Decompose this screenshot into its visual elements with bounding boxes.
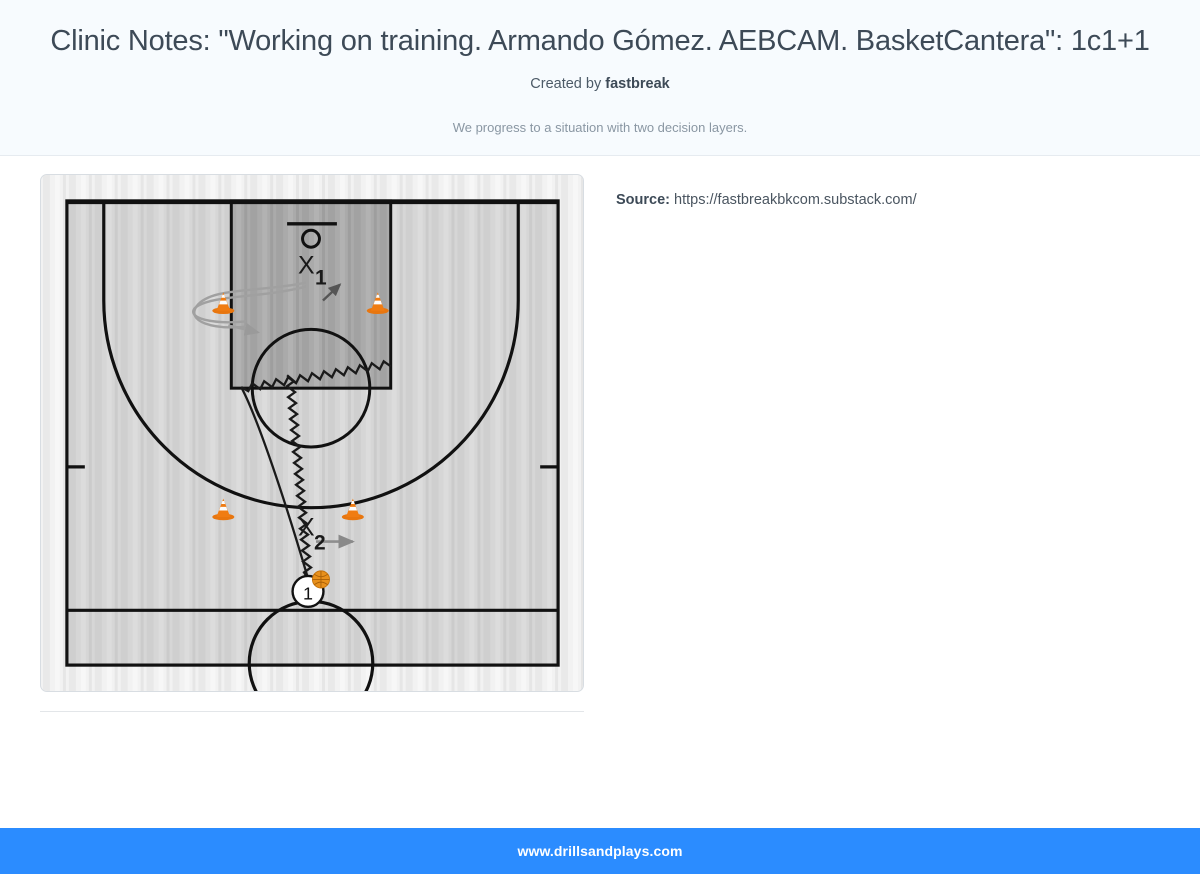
created-by-author: fastbreak [605,76,669,92]
defender-x1-subscript: 1 [315,267,327,290]
page-header: Clinic Notes: "Working on training. Arma… [0,0,1200,156]
created-by-line: Created by fastbreak [24,76,1176,92]
source-line: Source: https://fastbreakbkcom.substack.… [616,192,1180,208]
info-column: Source: https://fastbreakbkcom.substack.… [600,174,1200,874]
page-title: Clinic Notes: "Working on training. Arma… [24,22,1176,60]
defender-x1-label: X [298,252,315,280]
diagram-column: X 1 X 2 1 [0,174,600,874]
player-1-label: 1 [303,584,313,604]
defender-x2-label: X [298,514,315,542]
content-divider [40,711,584,712]
footer-site-link[interactable]: www.drillsandplays.com [517,843,682,859]
source-url[interactable]: https://fastbreakbkcom.substack.com/ [674,192,917,208]
source-label: Source: [616,192,670,208]
court-surface-group: X 1 X 2 1 [41,175,583,691]
play-description: We progress to a situation with two deci… [24,120,1176,135]
court-diagram: X 1 X 2 1 [40,174,584,692]
court-svg: X 1 X 2 1 [41,175,583,691]
page-root: Clinic Notes: "Working on training. Arma… [0,0,1200,874]
page-footer: www.drillsandplays.com [0,828,1200,874]
created-by-prefix: Created by [530,76,605,92]
page-body: X 1 X 2 1 [0,156,1200,874]
defender-x2-subscript: 2 [314,532,326,555]
